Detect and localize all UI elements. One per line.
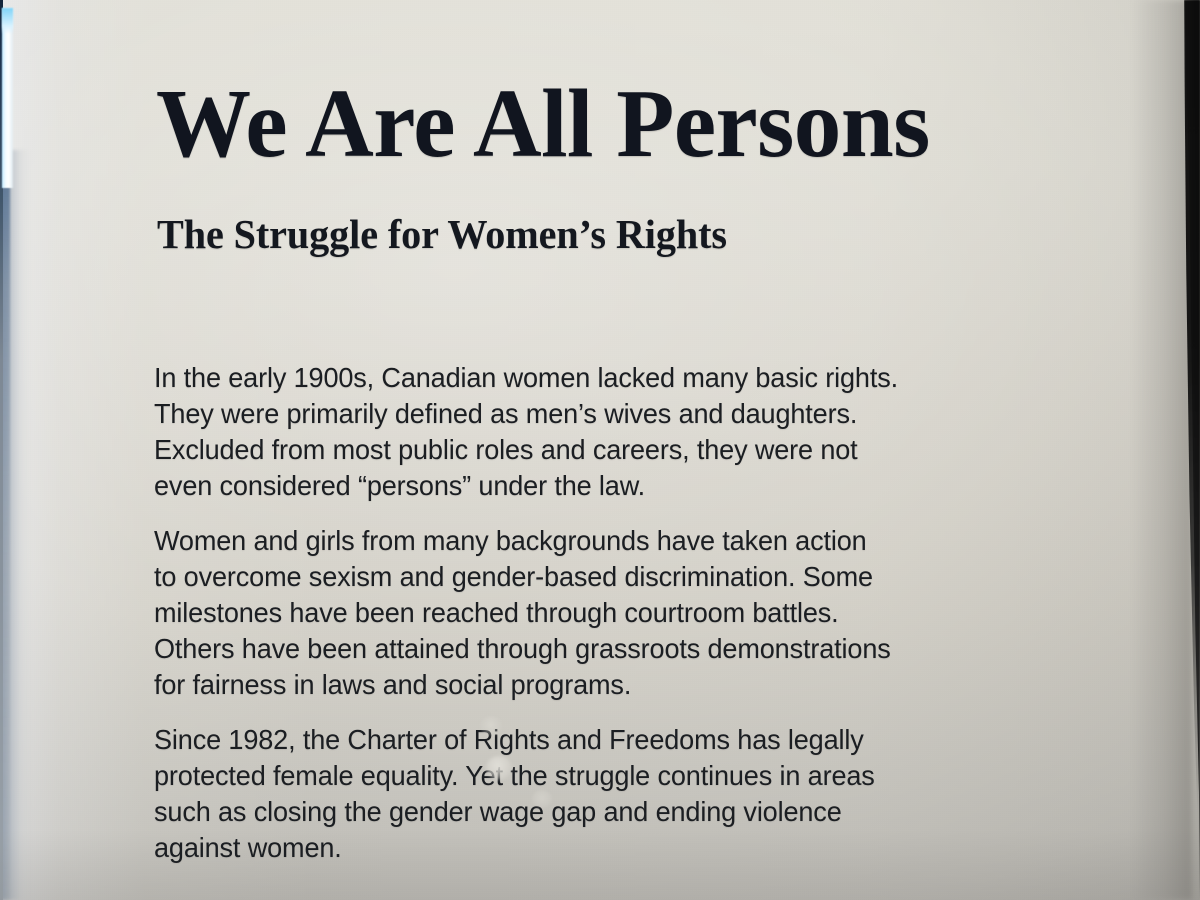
exhibit-panel-photo: We Are All Persons The Struggle for Wome… bbox=[0, 0, 1200, 900]
body-paragraph-3: Since 1982, the Charter of Rights and Fr… bbox=[154, 722, 932, 866]
body-paragraph-2: Women and girls from many backgrounds ha… bbox=[154, 523, 932, 703]
page-subtitle: The Struggle for Women’s Rights bbox=[157, 212, 727, 257]
page-title: We Are All Persons bbox=[156, 72, 930, 178]
body-paragraph-1: In the early 1900s, Canadian women lacke… bbox=[154, 360, 932, 504]
exhibit-text-content: We Are All Persons The Struggle for Wome… bbox=[0, 0, 1200, 900]
body-text-block: In the early 1900s, Canadian women lacke… bbox=[154, 360, 944, 866]
